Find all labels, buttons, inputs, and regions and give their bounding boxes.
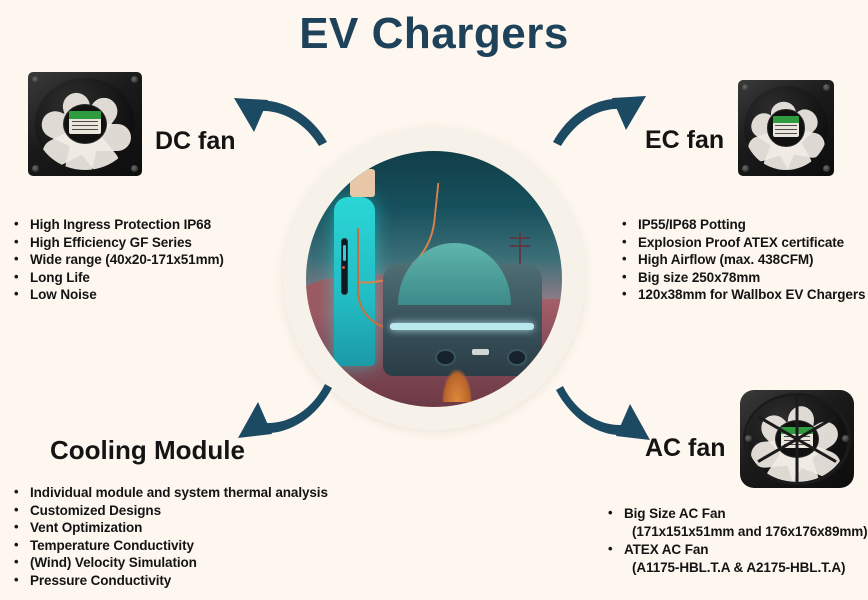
fan-screw (32, 76, 39, 83)
list-item-main: ATEX AC Fan (624, 542, 708, 557)
fan-hub (63, 104, 107, 144)
list-item: Long Life (14, 269, 224, 287)
list-item: 120x38mm for Wallbox EV Chargers (622, 286, 865, 304)
fan-label-brand-band (69, 111, 101, 119)
section-heading-cooling-module: Cooling Module (50, 435, 245, 466)
fan-screw (823, 165, 830, 172)
car-license-plate (472, 349, 489, 355)
dc-fan-photo (28, 72, 142, 176)
list-item: Vent Optimization (14, 519, 328, 537)
fan-label (773, 116, 800, 137)
arrow-down-right-icon (550, 382, 660, 448)
list-item: Temperature Conductivity (14, 537, 328, 555)
list-item: High Airflow (max. 438CFM) (622, 251, 865, 269)
charger-screen-indicator (342, 266, 344, 269)
fan-blades-assembly (744, 86, 828, 170)
fan-screw (131, 165, 138, 172)
fan-label (69, 111, 101, 134)
list-item: IP55/IP68 Potting (622, 216, 865, 234)
desert-bush (442, 369, 473, 402)
list-item: Big Size AC Fan (171x151x51mm and 176x17… (608, 505, 868, 541)
list-item: High Ingress Protection IP68 (14, 216, 224, 234)
fan-blades-assembly (35, 78, 135, 170)
list-item: Explosion Proof ATEX certificate (622, 234, 865, 252)
fan-hub (767, 109, 804, 146)
list-item: Pressure Conductivity (14, 572, 328, 590)
fan-screw (823, 84, 830, 91)
fan-label-specs-text (72, 121, 99, 132)
page-title: EV Chargers (0, 8, 868, 61)
fan-label-specs-text (775, 125, 797, 135)
car-wheel-left (435, 349, 456, 366)
section-heading-ac-fan: AC fan (645, 434, 726, 463)
fan-screw (32, 165, 39, 172)
list-item: Low Noise (14, 286, 224, 304)
list-item: High Efficiency GF Series (14, 234, 224, 252)
feature-list-ec-fan: IP55/IP68 Potting Explosion Proof ATEX c… (622, 216, 865, 304)
fan-screw (742, 165, 749, 172)
list-item-sub: (171x151x51mm and 176x176x89mm) (624, 523, 868, 541)
ec-fan-photo (738, 80, 834, 176)
feature-list-dc-fan: High Ingress Protection IP68 High Effici… (14, 216, 224, 304)
car-light-bar (390, 323, 533, 331)
list-item: Big size 250x78mm (622, 269, 865, 287)
ev-charging-station-photo (306, 151, 562, 407)
feature-list-ac-fan: Big Size AC Fan (171x151x51mm and 176x17… (608, 505, 868, 577)
list-item: Wide range (40x20-171x51mm) (14, 251, 224, 269)
arrow-up-right-icon (548, 86, 658, 148)
list-item-sub: (A1175-HBL.T.A & A2175-HBL.T.A) (624, 559, 868, 577)
fan-label-brand-band (773, 116, 800, 123)
list-item: Customized Designs (14, 502, 328, 520)
car-wheel-right (507, 349, 528, 366)
feature-list-cooling-module: Individual module and system thermal ana… (14, 484, 328, 589)
ac-fan-photo (740, 390, 854, 488)
list-item: (Wind) Velocity Simulation (14, 554, 328, 572)
charger-screen (341, 238, 348, 295)
section-heading-dc-fan: DC fan (155, 127, 236, 156)
charger-screen-display (343, 245, 346, 261)
list-item: Individual module and system thermal ana… (14, 484, 328, 502)
arrow-up-left-icon (222, 88, 332, 150)
section-heading-ec-fan: EC fan (645, 126, 724, 155)
fan-screw (131, 76, 138, 83)
list-item: ATEX AC Fan (A1175-HBL.T.A & A2175-HBL.T… (608, 541, 868, 577)
list-item-main: Big Size AC Fan (624, 506, 726, 521)
fan-screw (742, 84, 749, 91)
